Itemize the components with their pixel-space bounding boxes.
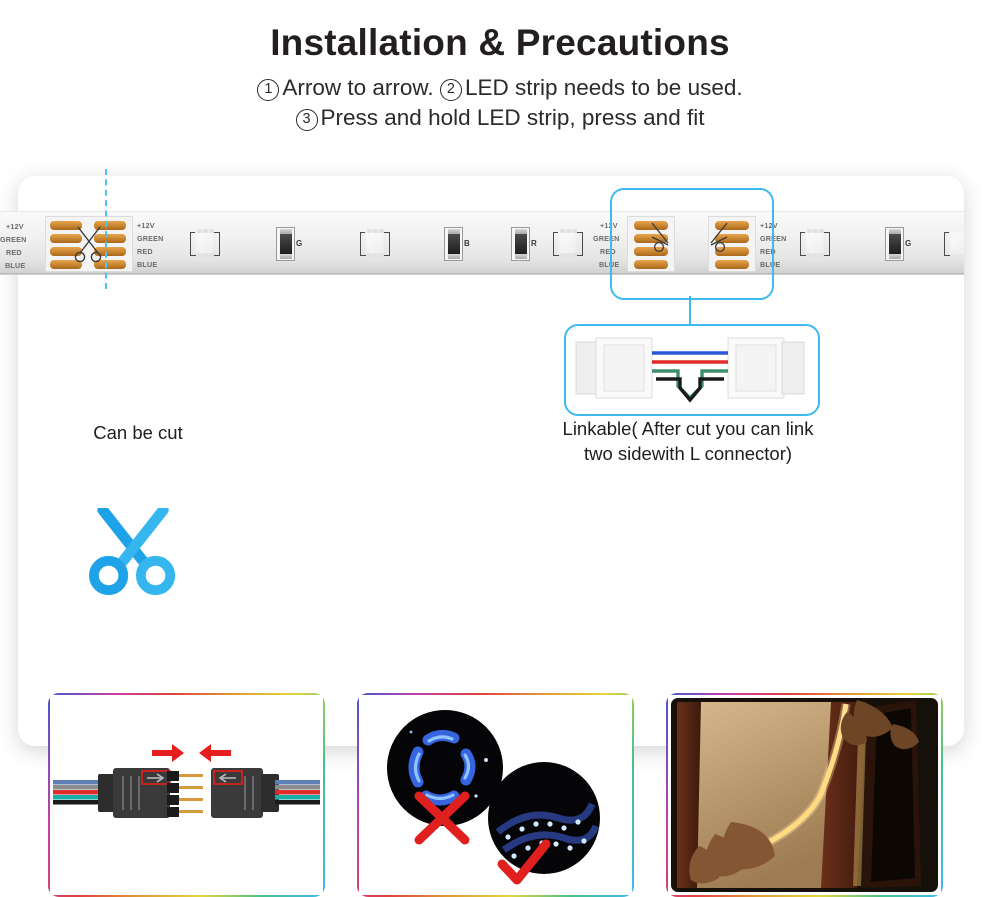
panel-coil-warning — [357, 693, 634, 897]
step-number-1: 1 — [257, 79, 279, 101]
linkable-caption-line2: two sidewith L connector) — [478, 442, 898, 467]
resistor-label-g: G — [296, 239, 302, 248]
installation-photo-graphic — [671, 698, 938, 892]
resistor-label-r: R — [531, 239, 537, 248]
resistor-g — [276, 227, 295, 261]
solder-pad-group-left: +12V GREEN RED BLUE — [45, 216, 133, 272]
led-chip — [800, 228, 830, 258]
led-chip — [553, 228, 583, 258]
cut-guide-line — [105, 169, 107, 289]
link-callout-box — [610, 188, 774, 300]
step-text-1: Arrow to arrow. — [282, 75, 433, 100]
panel-connector-alignment — [48, 693, 325, 897]
pad-label-blue-right: BLUE — [137, 260, 157, 269]
connector-alignment-graphic — [53, 698, 320, 892]
pad-label-12v: +12V — [6, 222, 24, 231]
panel-installation-photo — [666, 693, 943, 897]
coil-warning-graphic — [362, 698, 629, 892]
step-text-2: LED strip needs to be used. — [465, 75, 743, 100]
resistor-label-b: B — [464, 239, 470, 248]
page-header: Installation & Precautions 1Arrow to arr… — [0, 0, 1000, 133]
cut-scissors-mark — [72, 223, 106, 267]
pad-label-red: RED — [6, 248, 22, 257]
pad-label-12v-right: +12V — [137, 221, 155, 230]
linkable-caption: Linkable( After cut you can link two sid… — [478, 417, 898, 467]
subtitle-steps: 1Arrow to arrow. 2LED strip needs to be … — [0, 73, 1000, 133]
connector-graphic — [566, 326, 814, 410]
pad-label-green: GREEN — [0, 235, 27, 244]
page-title: Installation & Precautions — [0, 22, 1000, 64]
step-text-3: Press and hold LED strip, press and fit — [321, 105, 705, 130]
content-card: +12V GREEN RED BLUE +12V GREEN RED BLUE — [18, 176, 964, 746]
resistor-g-2 — [885, 227, 904, 261]
pad-label-green-right: GREEN — [137, 234, 164, 243]
l-connector-illustration — [564, 324, 820, 416]
led-chip — [360, 228, 390, 258]
linkable-caption-line1: Linkable( After cut you can link — [478, 417, 898, 442]
led-strip-diagram: +12V GREEN RED BLUE +12V GREEN RED BLUE — [0, 211, 964, 275]
link-callout-connector — [689, 296, 691, 324]
can-be-cut-label: Can be cut — [38, 421, 238, 446]
led-chip — [944, 228, 964, 258]
pad-label-blue: BLUE — [5, 261, 25, 270]
step-number-2: 2 — [440, 79, 462, 101]
resistor-r — [511, 227, 530, 261]
pad-label-red-right: RED — [137, 247, 153, 256]
resistor-b — [444, 227, 463, 261]
scissors-icon — [80, 508, 190, 598]
step-number-3: 3 — [296, 109, 318, 131]
resistor-label-g-2: G — [905, 239, 911, 248]
led-chip — [190, 228, 220, 258]
